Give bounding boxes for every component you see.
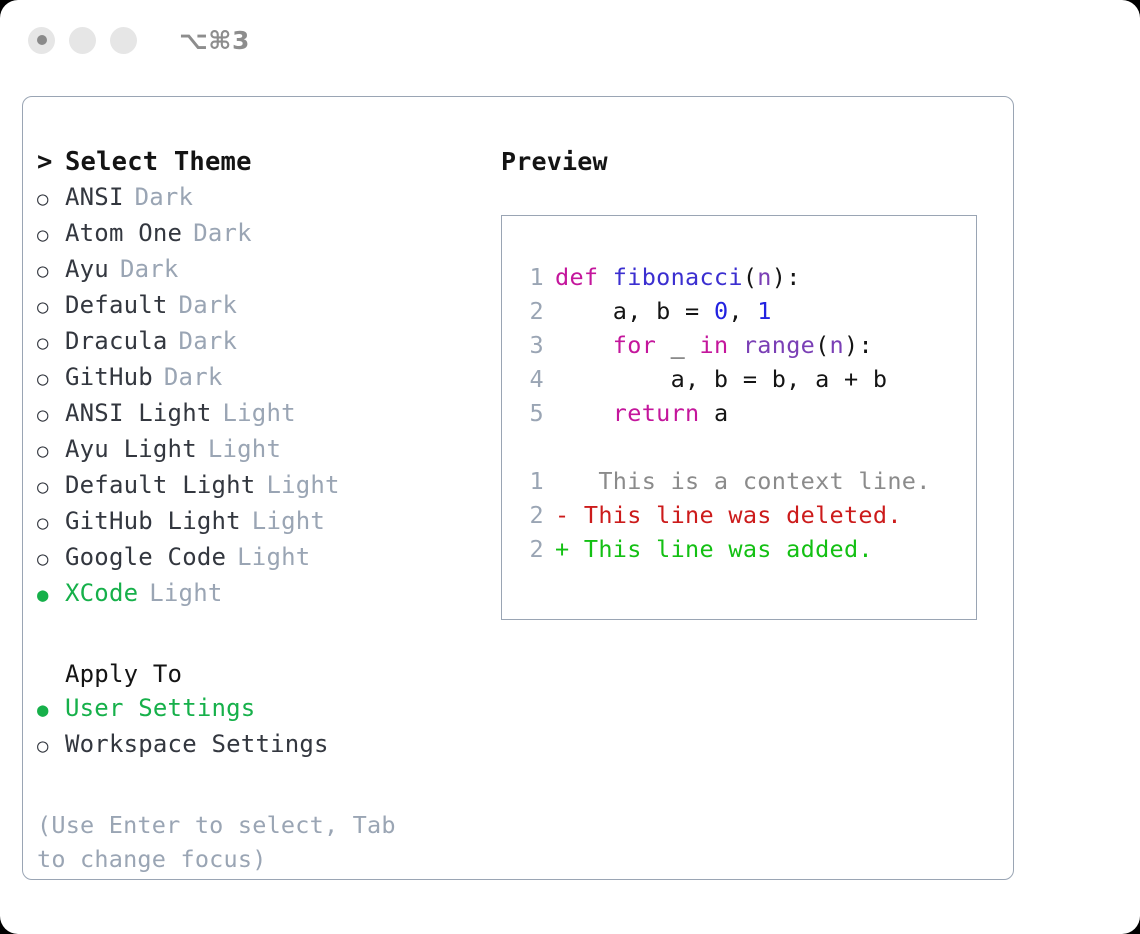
theme-option-variant-badge: Light: [149, 576, 222, 610]
radio-selected-icon: ●: [37, 578, 65, 612]
code-token-kw: return: [555, 399, 714, 427]
apply-to-section: Apply To ●User Settings○Workspace Settin…: [37, 657, 493, 763]
keyboard-hint-text: (Use Enter to select, Tab to change focu…: [37, 808, 437, 876]
apply-to-option-workspace-settings[interactable]: ○Workspace Settings: [37, 727, 493, 763]
code-token-kw: for: [555, 331, 671, 359]
code-line-text: for _ in range(n):: [555, 328, 873, 362]
code-token-var: _: [671, 331, 685, 359]
radio-unselected-icon: ○: [37, 542, 65, 576]
theme-list: ○ANSIDark○Atom OneDark○AyuDark○DefaultDa…: [37, 180, 493, 612]
preview-pane: Preview 1def fibonacci(n):2 a, b = 0, 13…: [493, 97, 1013, 879]
code-token-bi: n: [830, 331, 844, 359]
code-spacer: [516, 430, 976, 464]
preview-box: 1def fibonacci(n):2 a, b = 0, 13 for _ i…: [501, 215, 977, 620]
content-frame: > Select Theme ○ANSIDark○Atom OneDark○Ay…: [22, 96, 1014, 880]
code-token-punc: (: [815, 331, 829, 359]
diff-sign-marker: +: [555, 535, 569, 563]
radio-unselected-icon: ○: [37, 182, 65, 216]
theme-option-label: GitHub Light: [65, 504, 241, 538]
radio-unselected-icon: ○: [37, 470, 65, 504]
radio-unselected-icon: ○: [37, 434, 65, 468]
select-theme-label: Select Theme: [65, 145, 252, 179]
theme-option-variant-badge: Dark: [164, 360, 223, 394]
theme-option-default[interactable]: ○DefaultDark: [37, 288, 493, 324]
apply-to-list: ●User Settings○Workspace Settings: [37, 691, 493, 763]
apply-to-label: Apply To: [65, 657, 182, 691]
radio-unselected-icon: ○: [37, 326, 65, 360]
theme-option-xcode[interactable]: ●XCodeLight: [37, 576, 493, 612]
radio-unselected-icon: ○: [37, 290, 65, 324]
code-line-number: 4: [516, 362, 544, 396]
prompt-caret-icon: >: [37, 145, 65, 179]
theme-option-variant-badge: Dark: [135, 180, 194, 214]
diff-sign-marker: [555, 467, 569, 495]
theme-option-label: ANSI Light: [65, 396, 212, 430]
code-line-text: a, b = 0, 1: [555, 294, 772, 328]
code-sample: 1def fibonacci(n):2 a, b = 0, 13 for _ i…: [516, 260, 976, 430]
theme-option-variant-badge: Light: [266, 468, 339, 502]
code-line-number: 2: [516, 294, 544, 328]
theme-option-variant-badge: Dark: [179, 324, 238, 358]
code-token-var: a: [714, 399, 728, 427]
app-window: ⌥⌘3 > Select Theme ○ANSIDark○Atom OneDar…: [0, 0, 1140, 934]
theme-option-variant-badge: Light: [223, 396, 296, 430]
theme-option-label: Ayu: [65, 252, 109, 286]
diff-line-content: This is a context line.: [569, 467, 930, 495]
theme-option-ayu[interactable]: ○AyuDark: [37, 252, 493, 288]
code-token-kw: in: [685, 331, 743, 359]
theme-option-label: XCode: [65, 576, 138, 610]
diff-line: 1 This is a context line.: [516, 464, 976, 498]
theme-option-variant-badge: Dark: [120, 252, 179, 286]
apply-to-option-user-settings[interactable]: ●User Settings: [37, 691, 493, 727]
code-token-bi: n: [757, 263, 771, 291]
select-theme-prompt: > Select Theme: [37, 145, 493, 179]
title-bar: ⌥⌘3: [0, 0, 1140, 80]
code-token-var: a, b = b, a + b: [555, 365, 887, 393]
code-token-kw: def: [555, 263, 613, 291]
theme-option-label: Atom One: [65, 216, 182, 250]
code-line-text: def fibonacci(n):: [555, 260, 801, 294]
diff-sign-marker: -: [555, 501, 569, 529]
radio-selected-icon: ●: [37, 693, 65, 727]
code-line-number: 5: [516, 396, 544, 430]
theme-option-label: Dracula: [65, 324, 168, 358]
theme-option-label: Default: [65, 288, 168, 322]
diff-line-text: - This line was deleted.: [555, 498, 902, 532]
radio-unselected-icon: ○: [37, 729, 65, 763]
theme-option-label: Ayu Light: [65, 432, 197, 466]
theme-option-github[interactable]: ○GitHubDark: [37, 360, 493, 396]
apply-to-option-label: Workspace Settings: [65, 727, 329, 761]
code-line-number: 3: [516, 328, 544, 362]
diff-line-number: 1: [516, 464, 544, 498]
traffic-light-minimize[interactable]: [69, 27, 96, 54]
diff-line-content: This line was deleted.: [569, 501, 901, 529]
theme-option-variant-badge: Light: [208, 432, 281, 466]
code-line: 2 a, b = 0, 1: [516, 294, 976, 328]
diff-line-text: This is a context line.: [555, 464, 931, 498]
theme-option-ansi[interactable]: ○ANSIDark: [37, 180, 493, 216]
theme-option-variant-badge: Light: [252, 504, 325, 538]
code-line: 4 a, b = b, a + b: [516, 362, 976, 396]
traffic-light-maximize[interactable]: [110, 27, 137, 54]
code-token-num: 1: [757, 297, 771, 325]
code-token-punc: ):: [844, 331, 873, 359]
columns: > Select Theme ○ANSIDark○Atom OneDark○Ay…: [23, 97, 1013, 879]
code-token-var: a, b =: [555, 297, 714, 325]
code-token-punc: (: [743, 263, 757, 291]
theme-option-default-light[interactable]: ○Default LightLight: [37, 468, 493, 504]
keyboard-shortcut-label: ⌥⌘3: [179, 26, 250, 55]
code-line-text: return a: [555, 396, 728, 430]
preview-title: Preview: [501, 145, 1013, 179]
code-line-text: a, b = b, a + b: [555, 362, 887, 396]
code-line-number: 1: [516, 260, 544, 294]
code-token-num: 0: [714, 297, 728, 325]
diff-line-content: This line was added.: [569, 535, 872, 563]
theme-picker-pane: > Select Theme ○ANSIDark○Atom OneDark○Ay…: [23, 97, 493, 879]
theme-option-github-light[interactable]: ○GitHub LightLight: [37, 504, 493, 540]
diff-line-number: 2: [516, 532, 544, 566]
code-token-fn: fibonacci: [613, 263, 743, 291]
diff-line-number: 2: [516, 498, 544, 532]
theme-option-ayu-light[interactable]: ○Ayu LightLight: [37, 432, 493, 468]
radio-unselected-icon: ○: [37, 398, 65, 432]
code-line: 3 for _ in range(n):: [516, 328, 976, 362]
theme-option-atom-one[interactable]: ○Atom OneDark: [37, 216, 493, 252]
code-token-punc: ):: [772, 263, 801, 291]
apply-to-option-label: User Settings: [65, 691, 255, 725]
code-token-bi: range: [743, 331, 815, 359]
theme-option-ansi-light[interactable]: ○ANSI LightLight: [37, 396, 493, 432]
theme-option-label: Google Code: [65, 540, 226, 574]
traffic-light-close[interactable]: [28, 27, 55, 54]
radio-unselected-icon: ○: [37, 362, 65, 396]
theme-option-variant-badge: Light: [237, 540, 310, 574]
diff-line-text: + This line was added.: [555, 532, 873, 566]
code-token-punc: ,: [728, 297, 757, 325]
radio-unselected-icon: ○: [37, 218, 65, 252]
diff-sample: 1 This is a context line.2- This line wa…: [516, 464, 976, 566]
radio-unselected-icon: ○: [37, 254, 65, 288]
theme-option-dracula[interactable]: ○DraculaDark: [37, 324, 493, 360]
code-line: 1def fibonacci(n):: [516, 260, 976, 294]
theme-option-google-code[interactable]: ○Google CodeLight: [37, 540, 493, 576]
theme-option-label: Default Light: [65, 468, 255, 502]
diff-line: 2- This line was deleted.: [516, 498, 976, 532]
theme-option-variant-badge: Dark: [193, 216, 252, 250]
theme-option-label: GitHub: [65, 360, 153, 394]
theme-option-variant-badge: Dark: [179, 288, 238, 322]
apply-to-heading: Apply To: [37, 657, 493, 691]
radio-unselected-icon: ○: [37, 506, 65, 540]
theme-option-label: ANSI: [65, 180, 124, 214]
diff-line: 2+ This line was added.: [516, 532, 976, 566]
code-line: 5 return a: [516, 396, 976, 430]
traffic-light-active-dot: [37, 35, 47, 45]
